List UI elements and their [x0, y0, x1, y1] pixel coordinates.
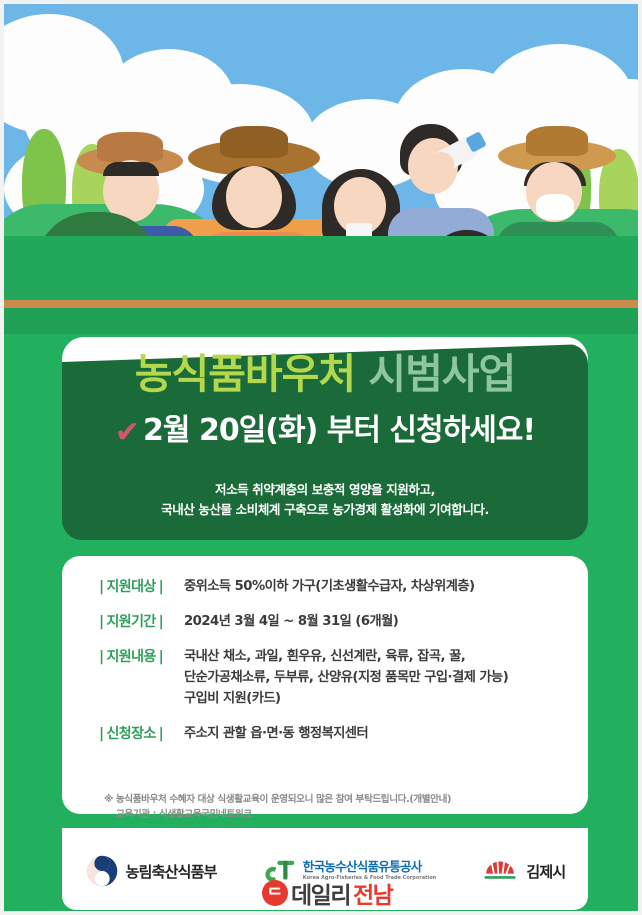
title-keyword-primary: 농식품바우처	[135, 350, 355, 398]
poster-root: 농식품바우처 시범사업 ✔2월 20일(화) 부터 신청하세요! 저소득 취약계…	[0, 0, 642, 915]
gimje-logo: 김제시	[481, 858, 565, 884]
info-label: |지원대상|	[96, 576, 184, 596]
watermark-text-dark: 데일리	[291, 876, 350, 910]
poster-title: 농식품바우처 시범사업	[4, 349, 642, 399]
info-row-list: |지원대상| 중위소득 50%이하 가구(기초생활수급자, 차상위계층) |지원…	[96, 576, 596, 758]
footnote-line-1: ※ 농식품바우처 수혜자 대상 식생활교육이 운영되오니 많은 참여 부탁드립니…	[104, 792, 574, 807]
title-keyword-secondary: 시범사업	[368, 350, 515, 398]
label-bar-left: |	[96, 726, 107, 742]
info-value-line: 주소지 관할 읍·면·동 행정복지센터	[184, 723, 596, 744]
at-label: 한국농수산식품유통공사	[303, 861, 436, 874]
mafra-logo: 농림축산식품부	[85, 854, 217, 888]
label-bar-right: |	[156, 649, 167, 665]
footnote-block: ※ 농식품바우처 수혜자 대상 식생활교육이 운영되오니 많은 참여 부탁드립니…	[104, 792, 574, 822]
label-bar-right: |	[156, 726, 167, 742]
info-row: |지원기간| 2024년 3월 4일 ~ 8월 31일 (6개월)	[96, 611, 596, 632]
label-bar-right: |	[156, 579, 167, 595]
label-bar-left: |	[96, 649, 107, 665]
info-label-text: 지원대상	[107, 579, 156, 595]
gimje-label: 김제시	[526, 861, 565, 882]
straw-hat-icon	[97, 132, 163, 162]
label-bar-right: |	[156, 614, 167, 630]
info-value-line: 구입비 지원(카드)	[184, 688, 596, 709]
info-value-line: 국내산 채소, 과일, 흰우유, 신선계란, 육류, 잡곡, 꿀,	[184, 646, 596, 667]
description-line-2: 국내산 농산물 소비체계 구축으로 농가경제 활성화에 기여합니다.	[4, 500, 642, 520]
info-value: 국내산 채소, 과일, 흰우유, 신선계란, 육류, 잡곡, 꿀, 단순가공채소…	[184, 646, 596, 709]
info-label-text: 신청장소	[107, 726, 156, 742]
info-label: |신청장소|	[96, 723, 184, 743]
poster-subtitle: ✔2월 20일(화) 부터 신청하세요!	[4, 412, 642, 450]
poster-description: 저소득 취약계층의 보충적 영양을 지원하고, 국내산 농산물 소비체계 구축으…	[4, 480, 642, 520]
watermark-text-red: 전남	[353, 876, 392, 910]
label-bar-left: |	[96, 614, 107, 630]
description-line-1: 저소득 취약계층의 보충적 영양을 지원하고,	[4, 480, 642, 500]
hero-illustration	[4, 4, 642, 356]
info-label: |지원기간|	[96, 611, 184, 631]
gimje-mark-icon	[481, 858, 519, 884]
label-bar-left: |	[96, 579, 107, 595]
info-row: |지원대상| 중위소득 50%이하 가구(기초생활수급자, 차상위계층)	[96, 576, 596, 597]
info-value-line: 단순가공채소류, 두부류, 산양유(지정 품목만 구입·결제 가능)	[184, 667, 596, 688]
hand-shape	[428, 152, 454, 176]
straw-hat-icon	[220, 126, 288, 158]
mafra-label: 농림축산식품부	[126, 861, 217, 882]
info-row: |지원내용| 국내산 채소, 과일, 흰우유, 신선계란, 육류, 잡곡, 꿀,…	[96, 646, 596, 709]
info-label: |지원내용|	[96, 646, 184, 666]
face-shape	[226, 166, 282, 228]
footnote-line-2: 교육기관 : 식생활교육국민네트워크	[104, 807, 574, 822]
info-value: 중위소득 50%이하 가구(기초생활수급자, 차상위계층)	[184, 576, 596, 597]
face-mask-icon	[536, 194, 574, 220]
apply-date-text: 2월 20일(화) 부터 신청하세요!	[143, 413, 535, 448]
check-icon: ✔	[115, 414, 139, 452]
info-row: |신청장소| 주소지 관할 읍·면·동 행정복지센터	[96, 723, 596, 744]
hair-shape	[103, 162, 159, 176]
info-value: 주소지 관할 읍·면·동 행정복지센터	[184, 723, 596, 744]
daily-jeonnam-icon: ᄃ	[262, 880, 288, 906]
info-value-line: 2024년 3월 4일 ~ 8월 31일 (6개월)	[184, 611, 596, 632]
info-value-line: 중위소득 50%이하 가구(기초생활수급자, 차상위계층)	[184, 576, 596, 597]
info-value: 2024년 3월 4일 ~ 8월 31일 (6개월)	[184, 611, 596, 632]
straw-hat-icon	[526, 126, 588, 156]
taegeuk-icon	[85, 854, 119, 888]
info-label-text: 지원기간	[107, 614, 156, 630]
watermark: ᄃ 데일리 전남	[262, 876, 392, 910]
info-label-text: 지원내용	[107, 649, 156, 665]
